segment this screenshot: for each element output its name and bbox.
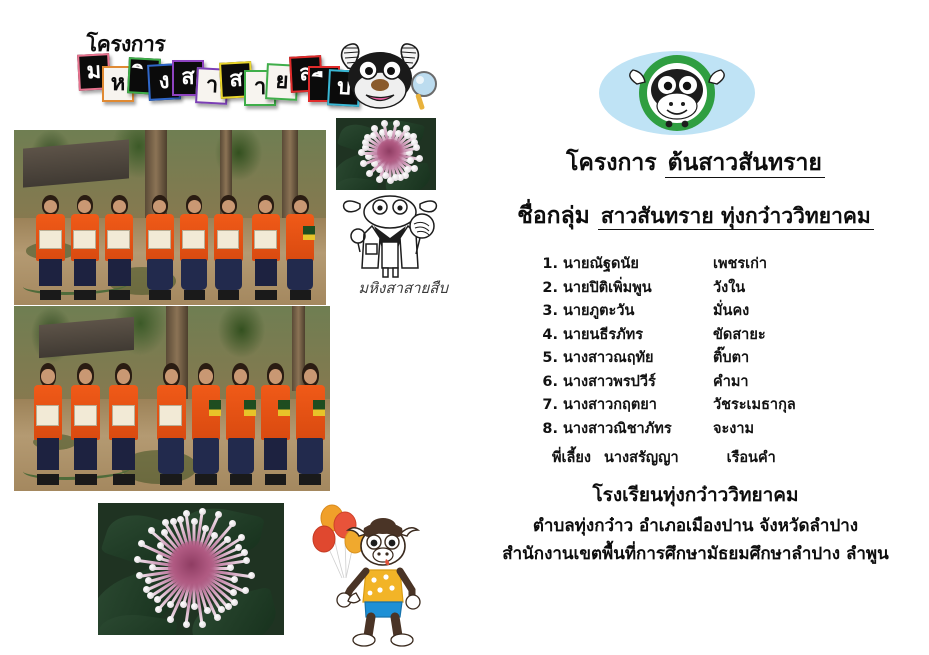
flower-bud [177,516,184,523]
flower-bud [371,125,378,132]
flower-bud [214,614,221,621]
photo-students-holding-books [14,306,330,491]
flower-bud [183,621,190,628]
buffalo-circle-logo-icon [597,50,757,136]
flower-bud [366,170,373,177]
detective-caption: มหิงสาสายสืบ [318,276,448,300]
flower-core [377,139,404,166]
member-number: 6. [538,374,563,390]
advisor-surname: เรือนคำ [679,446,776,469]
advisor-label: พี่เลี้ยง [538,446,591,469]
member-first-name: นายณัฐดนัย [563,252,713,275]
school-education-area: สำนักงานเขตพื้นที่การศึกษามัธยมศึกษาลำปา… [462,540,929,567]
flower-bud [162,519,169,526]
flower-bud [360,160,367,167]
member-first-name: นางสาวณฤทัย [563,346,713,369]
member-number: 7. [538,397,563,413]
member-first-name: นางสาวณิชาภัทร [563,417,713,440]
flower-bud [241,549,248,556]
flower-bud [225,603,232,610]
member-first-name: นายนธีรภัทร [563,323,713,346]
flower-bud [416,155,423,162]
flower-bud [149,564,156,571]
flower-bud [134,556,141,563]
flower-bud [199,621,206,628]
member-number: 1. [538,256,563,272]
member-last-name: ติ๊บตา [713,346,868,369]
member-first-name: นางสาวกฤตยา [563,393,713,416]
flower-bud [136,572,143,579]
member-list: 1.นายณัฐดนัยเพชรเก่า2.นายปิติเพิ่มพูนวัง… [538,252,868,440]
flower-bud [403,125,410,132]
member-last-name: จะงาม [713,417,868,440]
flower-bud [180,601,187,608]
project-title-line: โครงการ ต้นสาวสันทราย [462,145,929,181]
flower-bud [243,557,250,564]
flower-bud [204,607,211,614]
member-last-name: วัชระเมธากุล [713,393,868,416]
group-label: ชื่อกลุ่ม [517,203,590,229]
group-title-line: ชื่อกลุ่ม สาวสันทราย ทุ่งกว๋าววิทยาคม [462,198,929,234]
flower-bud [238,534,245,541]
flower-bud [248,572,255,579]
flower-bud [143,586,150,593]
flower-bud [413,144,420,151]
member-number: 5. [538,350,563,366]
member-row: 4.นายนธีรภัทรขัดสายะ [538,323,868,347]
buffalo-detective-icon [338,186,442,278]
photo-students-reading [14,130,326,305]
photo-flower-small [336,118,436,190]
flower-bud [148,527,155,534]
flower-bud [231,576,238,583]
member-row: 6.นางสาวพรปวีร์คำมา [538,370,868,394]
member-first-name: นายปิติเพิ่มพูน [563,276,713,299]
member-number: 2. [538,280,563,296]
member-number: 8. [538,421,563,437]
member-row: 2.นายปิติเพิ่มพูนวังใน [538,276,868,300]
flower-bud [170,518,177,525]
buffalo-mascot-with-balloons-icon [308,498,428,648]
member-last-name: คำมา [713,370,868,393]
member-row: 8.นางสาวณิชาภัทรจะงาม [538,417,868,441]
member-row: 3.นายภูตะวันมั่นคง [538,299,868,323]
photo-flower-large [98,503,284,635]
flower-bud [191,603,198,610]
magnifying-glass-icon [408,70,442,112]
member-row: 1.นายณัฐดนัยเพชรเก่า [538,252,868,276]
member-last-name: เพชรเก่า [713,252,868,275]
flower-bud [393,120,400,127]
page-root: { "banner": { "word": "โครงการ", "tiles"… [0,0,929,655]
flower-bud [199,508,206,515]
advisor-row: พี่เลี้ยง นางสรัญญา เรือนคำ [538,446,898,469]
flower-bud [154,596,161,603]
member-number: 3. [538,303,563,319]
project-value: ต้นสาวสันทราย [665,150,825,178]
member-last-name: วังใน [713,276,868,299]
flower-bud [218,606,225,613]
member-number: 4. [538,327,563,343]
group-value: สาวสันทราย ทุ่งกว๋าววิทยาคม [598,204,874,230]
school-name: โรงเรียนทุ่งกว๋าววิทยาคม [462,480,929,510]
flower-bud [155,606,162,613]
school-address: ตำบลทุ่งกว๋าว อำเภอเมืองปาน จังหวัดลำปาง [462,512,929,539]
right-content-panel: โครงการ ต้นสาวสันทราย ชื่อกลุ่ม สาวสันทร… [462,0,929,655]
member-first-name: นางสาวพรปวีร์ [563,370,713,393]
member-row: 7.นางสาวกฤตยาวัชระเมธากุล [538,393,868,417]
flower-bud [381,120,388,127]
member-row: 5.นางสาวณฤทัยติ๊บตา [538,346,868,370]
advisor-name: นางสรัญญา [591,446,679,469]
member-last-name: มั่นคง [713,299,868,322]
member-last-name: ขัดสายะ [713,323,868,346]
flower-bud [224,536,231,543]
flower-bud [167,601,174,608]
member-first-name: นายภูตะวัน [563,299,713,322]
flower-core [168,541,220,593]
project-banner-logo: โครงการ มหิงสาสายสืบ [78,28,438,128]
flower-bud [376,176,383,183]
project-label: โครงการ [566,150,657,176]
